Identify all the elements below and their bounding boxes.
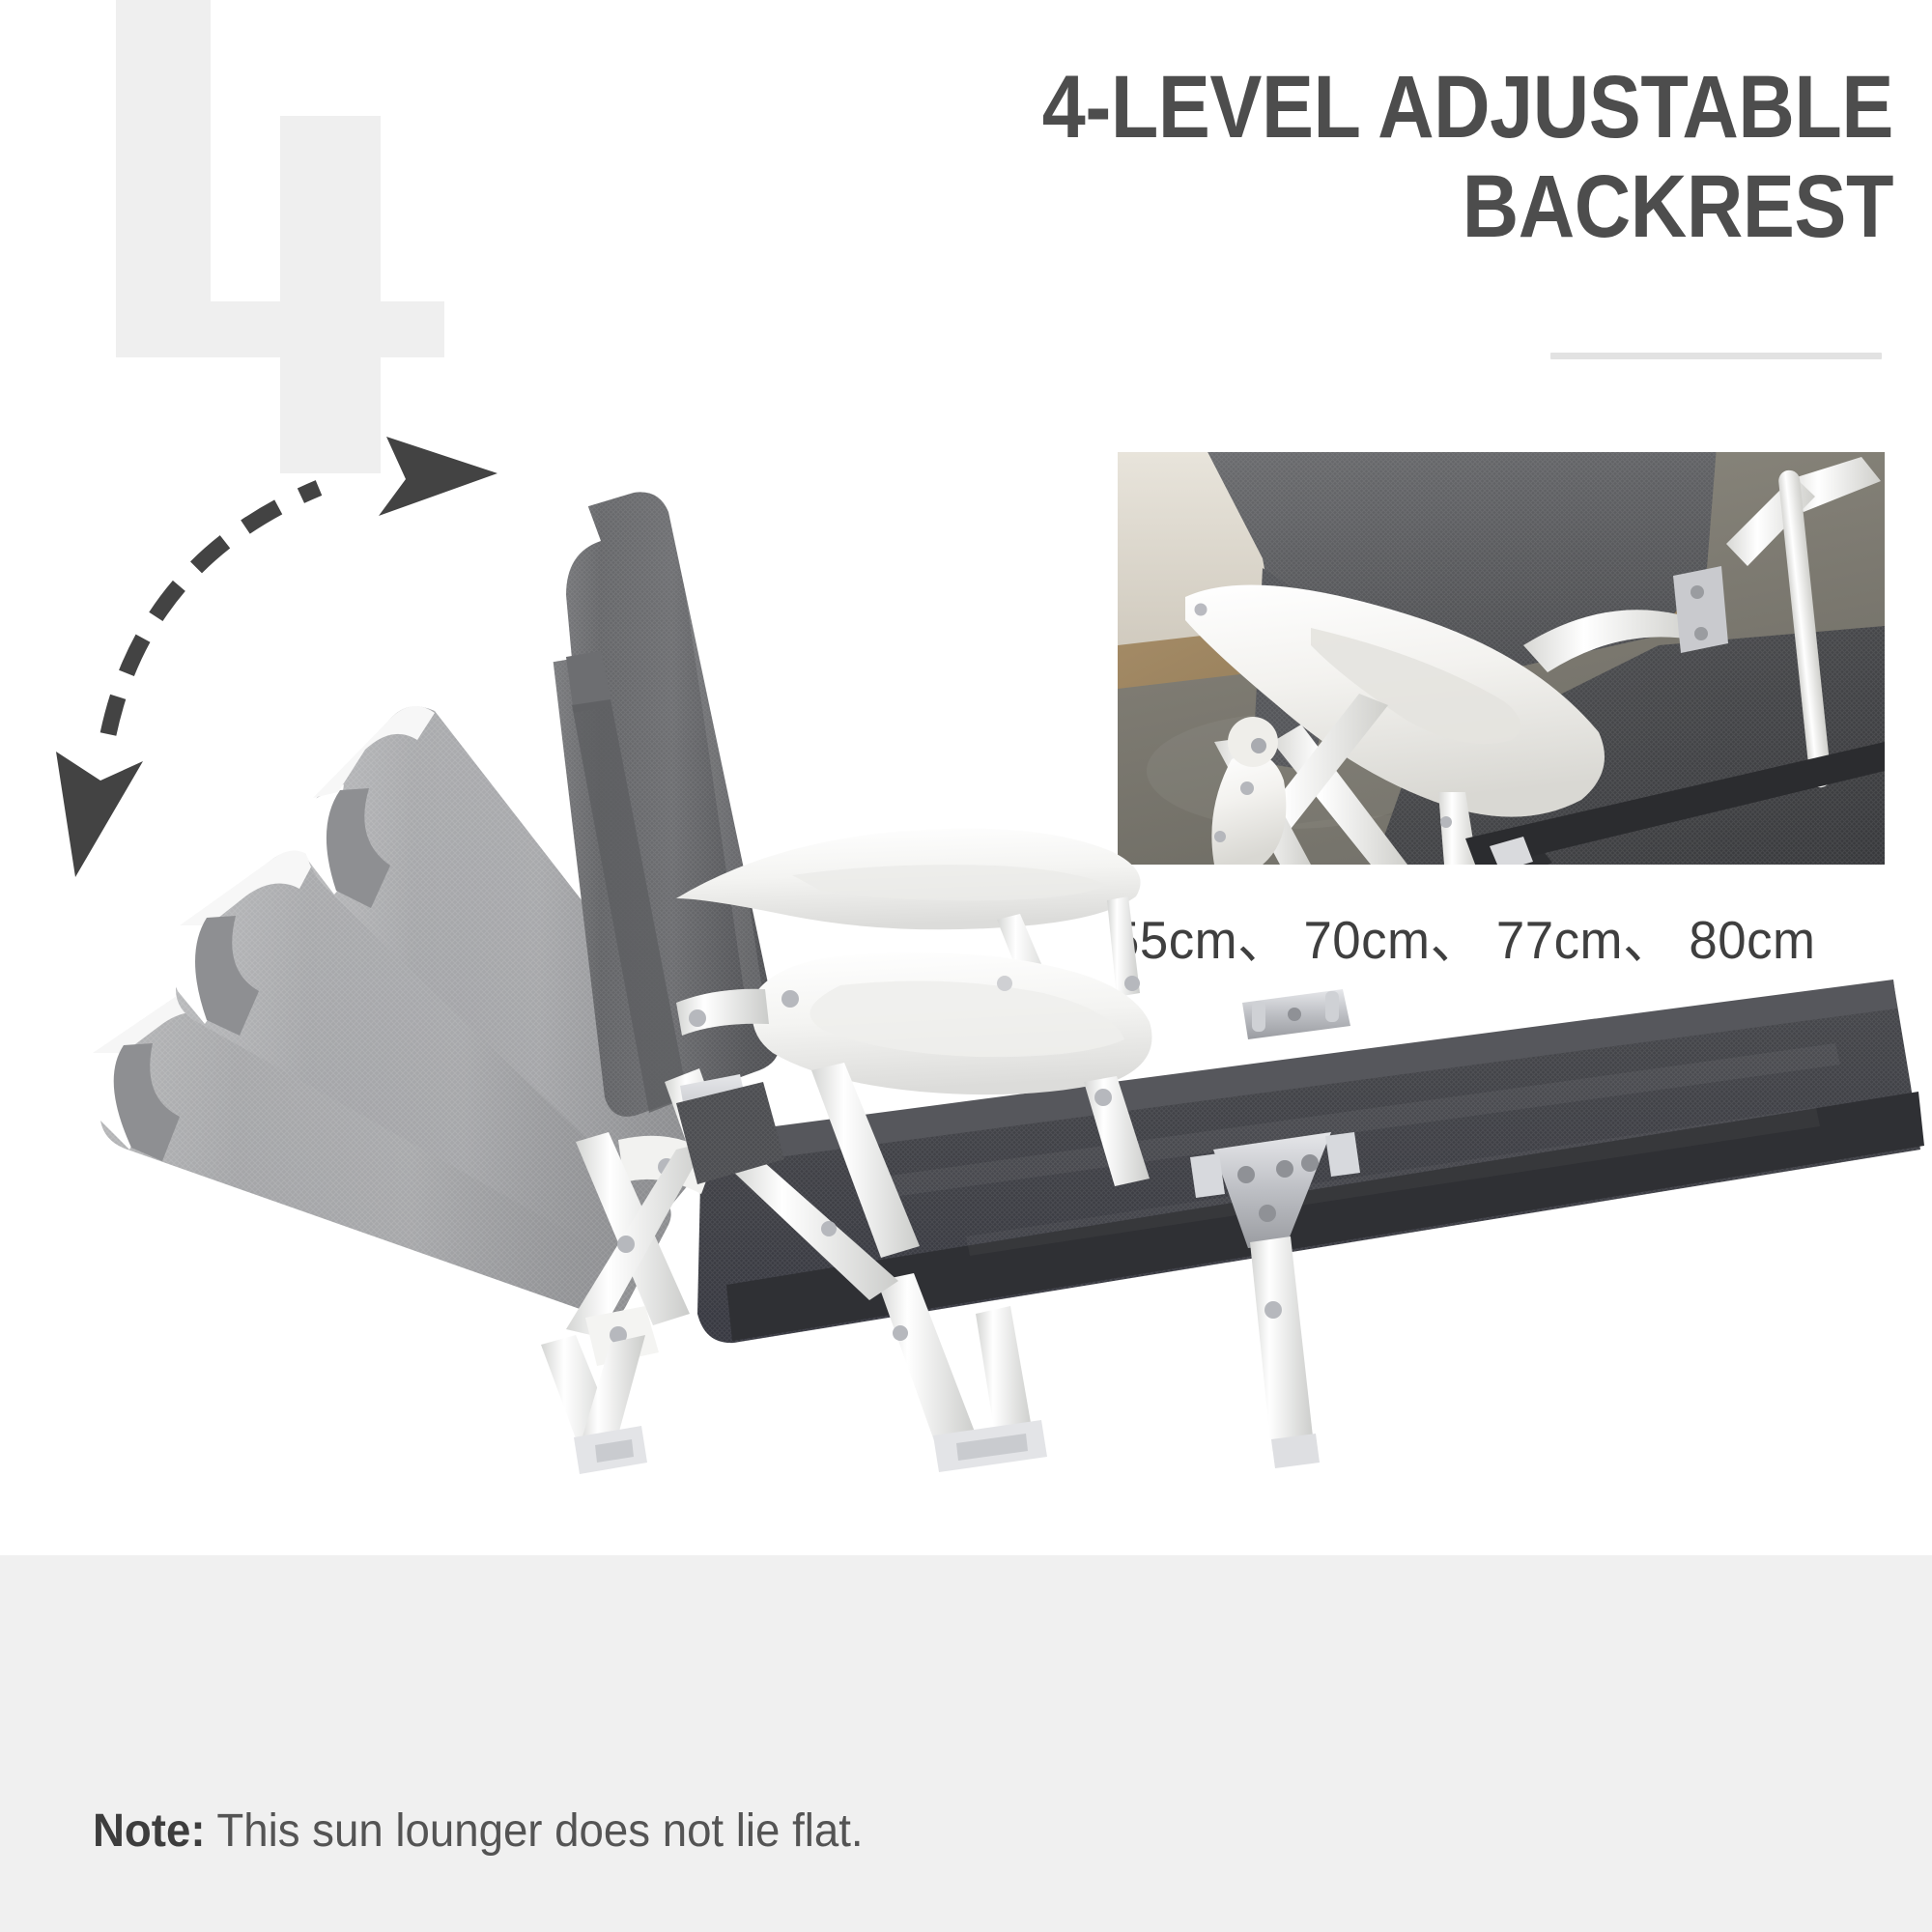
title-divider <box>1550 353 1882 359</box>
infographic-canvas: 4-LEVEL ADJUSTABLE BACKREST <box>0 0 1932 1932</box>
armrest-near <box>753 952 1152 1094</box>
head-end-legs <box>541 1335 647 1474</box>
note-label: Note: <box>93 1805 206 1857</box>
page-title: 4-LEVEL ADJUSTABLE BACKREST <box>737 58 1893 257</box>
title-line-1: 4-LEVEL ADJUSTABLE <box>1042 58 1893 156</box>
footer-note: Note: This sun lounger does not lie flat… <box>93 1804 864 1858</box>
bed-hinge-bracket <box>1242 989 1350 1039</box>
footer-band <box>0 1555 1932 1932</box>
lounger-illustration <box>0 415 1932 1565</box>
watermark-number-4 <box>81 0 487 473</box>
foot-leg <box>1250 1236 1320 1468</box>
note-body: This sun lounger does not lie flat. <box>206 1805 864 1857</box>
title-line-2: BACKREST <box>737 157 1893 257</box>
